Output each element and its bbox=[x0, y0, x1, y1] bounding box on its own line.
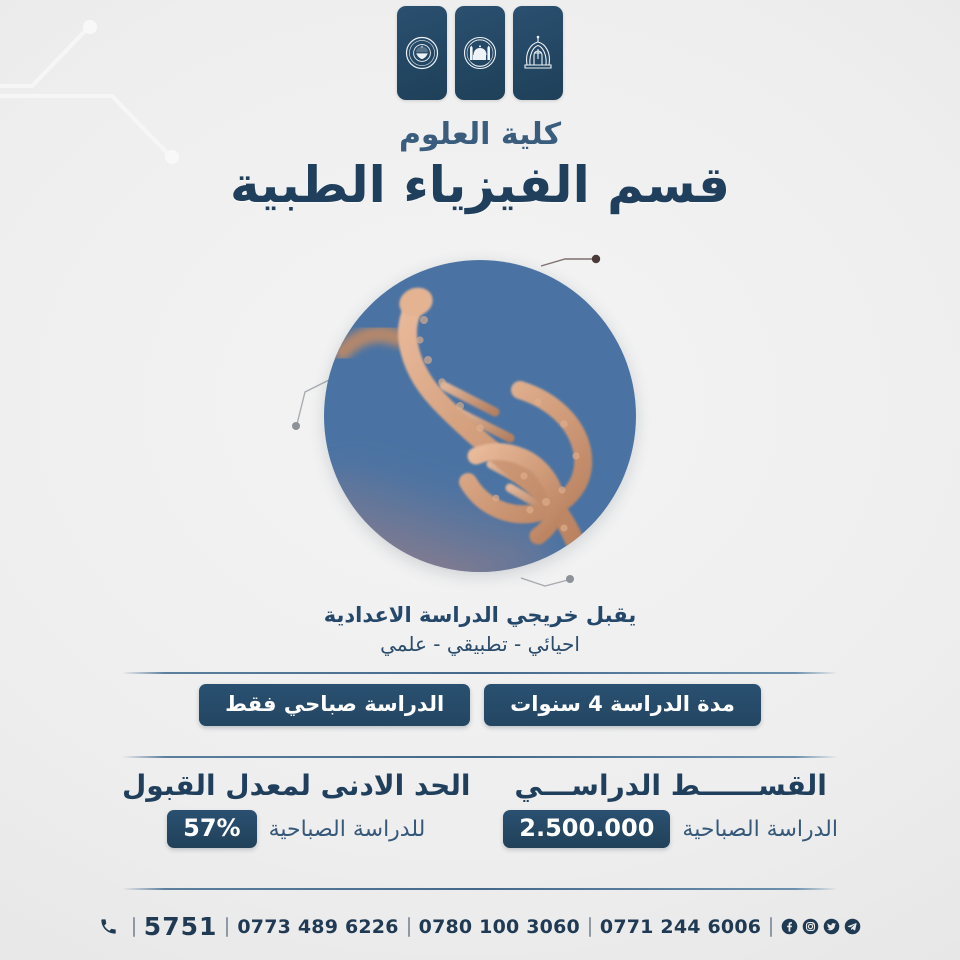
pill-study-duration: مدة الدراسة 4 سنوات bbox=[484, 684, 761, 726]
info-row: القســــــط الدراســـي الدراسة الصباحية … bbox=[122, 770, 838, 848]
college-seal-icon bbox=[404, 35, 440, 71]
eligibility-line-2: احيائي - تطبيقي - علمي bbox=[0, 631, 960, 658]
fee-value: 2.500.000 bbox=[503, 810, 670, 848]
phone-number-2: 0780 100 3060 bbox=[419, 916, 580, 938]
footer-separator bbox=[770, 917, 772, 937]
titles-block: كلية العلوم قسم الفيزياء الطبية bbox=[0, 118, 960, 215]
logo-row bbox=[0, 6, 960, 100]
fee-line: الدراسة الصباحية 2.500.000 bbox=[503, 810, 838, 848]
info-col-fee: القســــــط الدراســـي الدراسة الصباحية … bbox=[503, 770, 838, 848]
logo-badge-university-seal-mosque bbox=[455, 6, 505, 100]
footer-separator bbox=[133, 917, 135, 937]
ministry-emblem-icon bbox=[521, 35, 555, 71]
dna-helix-graphic bbox=[324, 260, 636, 572]
footer-separator bbox=[226, 917, 228, 937]
department-title: قسم الفيزياء الطبية bbox=[0, 155, 960, 215]
phone-number-3: 0771 244 6006 bbox=[600, 916, 761, 938]
admission-line: للدراسة الصباحية 57% bbox=[122, 810, 470, 848]
logo-badge-ministry-emblem bbox=[513, 6, 563, 100]
footer-separator bbox=[408, 917, 410, 937]
telegram-icon[interactable] bbox=[844, 918, 861, 935]
fee-label: الدراسة الصباحية bbox=[682, 817, 838, 842]
instagram-icon[interactable] bbox=[802, 918, 819, 935]
hero-image-wrap bbox=[324, 260, 636, 572]
divider-middle bbox=[122, 756, 838, 758]
admission-label: للدراسة الصباحية bbox=[269, 817, 426, 842]
eligibility-block: يقبل خريجي الدراسة الاعدادية احيائي - تط… bbox=[0, 602, 960, 658]
info-col-admission: الحد الادنى لمعدل القبول للدراسة الصباحي… bbox=[122, 770, 470, 848]
fee-heading: القســــــط الدراســـي bbox=[503, 770, 838, 802]
divider-bottom bbox=[122, 888, 838, 890]
dna-double-helix-photo bbox=[324, 260, 636, 572]
pill-study-shift: الدراسة صباحي فقط bbox=[199, 684, 470, 726]
hotline-number: 5751 bbox=[144, 912, 218, 941]
divider-top bbox=[122, 672, 838, 674]
admission-heading: الحد الادنى لمعدل القبول bbox=[122, 770, 470, 802]
mosque-seal-icon bbox=[462, 35, 498, 71]
facebook-icon[interactable] bbox=[781, 918, 798, 935]
poster-root: كلية العلوم قسم الفيزياء الطبية bbox=[0, 0, 960, 960]
pill-row: مدة الدراسة 4 سنوات الدراسة صباحي فقط bbox=[0, 684, 960, 726]
social-icons bbox=[781, 918, 861, 935]
admission-value: 57% bbox=[167, 810, 256, 848]
eligibility-line-1: يقبل خريجي الدراسة الاعدادية bbox=[0, 602, 960, 628]
college-title: كلية العلوم bbox=[0, 118, 960, 153]
logo-badge-college-seal bbox=[397, 6, 447, 100]
twitter-icon[interactable] bbox=[823, 918, 840, 935]
footer-contacts: 5751 0773 489 6226 0780 100 3060 0771 24… bbox=[0, 912, 960, 941]
phone-icon bbox=[99, 917, 118, 936]
phone-number-1: 0773 489 6226 bbox=[237, 916, 398, 938]
footer-separator bbox=[589, 917, 591, 937]
